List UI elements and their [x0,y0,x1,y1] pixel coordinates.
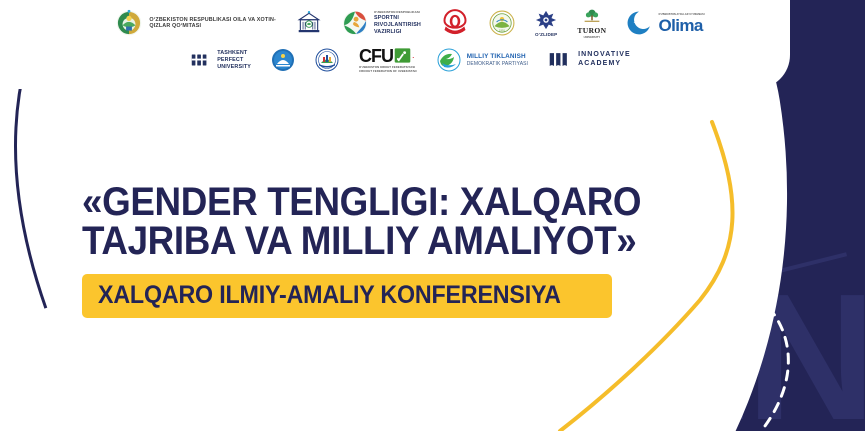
logo-sportni-rivojlantirish-vazirligi: O‘ZBEKISTON RESPUBLIKASI SPORTNI RIVOJLA… [342,10,421,36]
tpu-bars-icon [189,49,211,71]
subtitle-badge: XALQARO ILMIY-AMALIY KONFERENSIYA [82,274,612,318]
logo-label: O‘ZLIDEP [535,32,557,38]
logo-label: CFU [359,47,393,65]
headline-block: «GENDER TENGLIGI: XALQARO TAJRIBA VA MIL… [82,183,642,318]
logo-milliy-tiklanish: MILLIY TIKLANISH DEMOKRATIK PARTIYASI [437,48,528,72]
red-wreath-icon [441,9,469,37]
logo-row-1: O‘ZBEKISTON RESPUBLIKASI OILA VA XOTIN- … [56,8,764,39]
logo-label: SPORTNI RIVOJLANTIRISH VAZIRLIGI [374,15,421,36]
title-line-1: «GENDER TENGLIGI: XALQARO [82,183,597,222]
logo-olima: O‘ZBEKISTON AYOLLAR UYUSHMASI Olima [626,10,704,36]
blue-circle-seal-icon [271,48,295,72]
logo-university-emblem [296,10,322,36]
logo-sublabel: UNIVERSITY [584,36,601,39]
turon-tree-icon [582,8,602,26]
logo-blue-circle-emblem [271,48,295,72]
conference-banner: ENT [0,0,865,431]
logo-red-crescent-emblem [441,9,469,37]
logo-institute-emblem [315,48,339,72]
logo-turon: TURON UNIVERSITY [577,8,606,39]
subtitle-wrapper: XALQARO ILMIY-AMALIY KONFERENSIYA [82,274,642,318]
logo-oila-xotin-qizlar-qomitasi: O‘ZBEKISTON RESPUBLIKASI OILA VA XOTIN- … [115,9,276,37]
logo-row-2: TASHKENT PERFECT UNIVERSITY [56,47,764,73]
logo-label: O‘ZBEKISTON RESPUBLIKASI OILA VA XOTIN- … [149,17,276,31]
logo-green-circular-emblem: 1991 [489,10,515,36]
innovative-academy-flags-icon [548,50,572,70]
logo-sublabel: DEMOKRATIK PARTIYASI [467,61,528,68]
university-building-icon [296,10,322,36]
white-base-shape [0,330,600,431]
olima-spark-icon [626,10,652,36]
title-line-2: TAJRIBA VA MILLIY AMALIYOT» [82,222,597,261]
logo-innovative-academy: INNOVATIVE ACADEMY [548,50,631,70]
logo-label: TASHKENT PERFECT UNIVERSITY [217,50,251,71]
logo-ozlidep: O‘ZLIDEP [535,9,557,38]
logo-label: Olima [658,17,704,34]
subtitle-text: XALQARO ILMIY-AMALIY KONFERENSIYA [98,281,561,310]
ozlidep-cross-icon [535,9,557,31]
logo-label: TURON [577,26,606,36]
uzbekistan-emblem-icon [115,9,143,37]
logo-sublabel: O‘ZBEKISTON KRIKET FEDERATSIYASI CRICKET… [359,66,417,73]
cfu-cricket-icon [394,47,411,64]
logo-cricket-federation-uzbekistan: CFU . O‘ZBEKISTON KRIKET FEDERATSIYASI C… [359,47,417,73]
institute-seal-icon [315,48,339,72]
svg-text:1991: 1991 [499,29,505,33]
logo-label: INNOVATIVE ACADEMY [578,51,631,69]
partner-logo-strip: O‘ZBEKISTON RESPUBLIKASI OILA VA XOTIN- … [0,0,790,89]
logo-label: MILLIY TIKLANISH [467,53,528,61]
sport-ministry-icon [342,10,368,36]
milliy-tiklanish-bird-icon [437,48,461,72]
logo-tashkent-perfect-university: TASHKENT PERFECT UNIVERSITY [189,49,251,71]
green-seal-icon: 1991 [489,10,515,36]
